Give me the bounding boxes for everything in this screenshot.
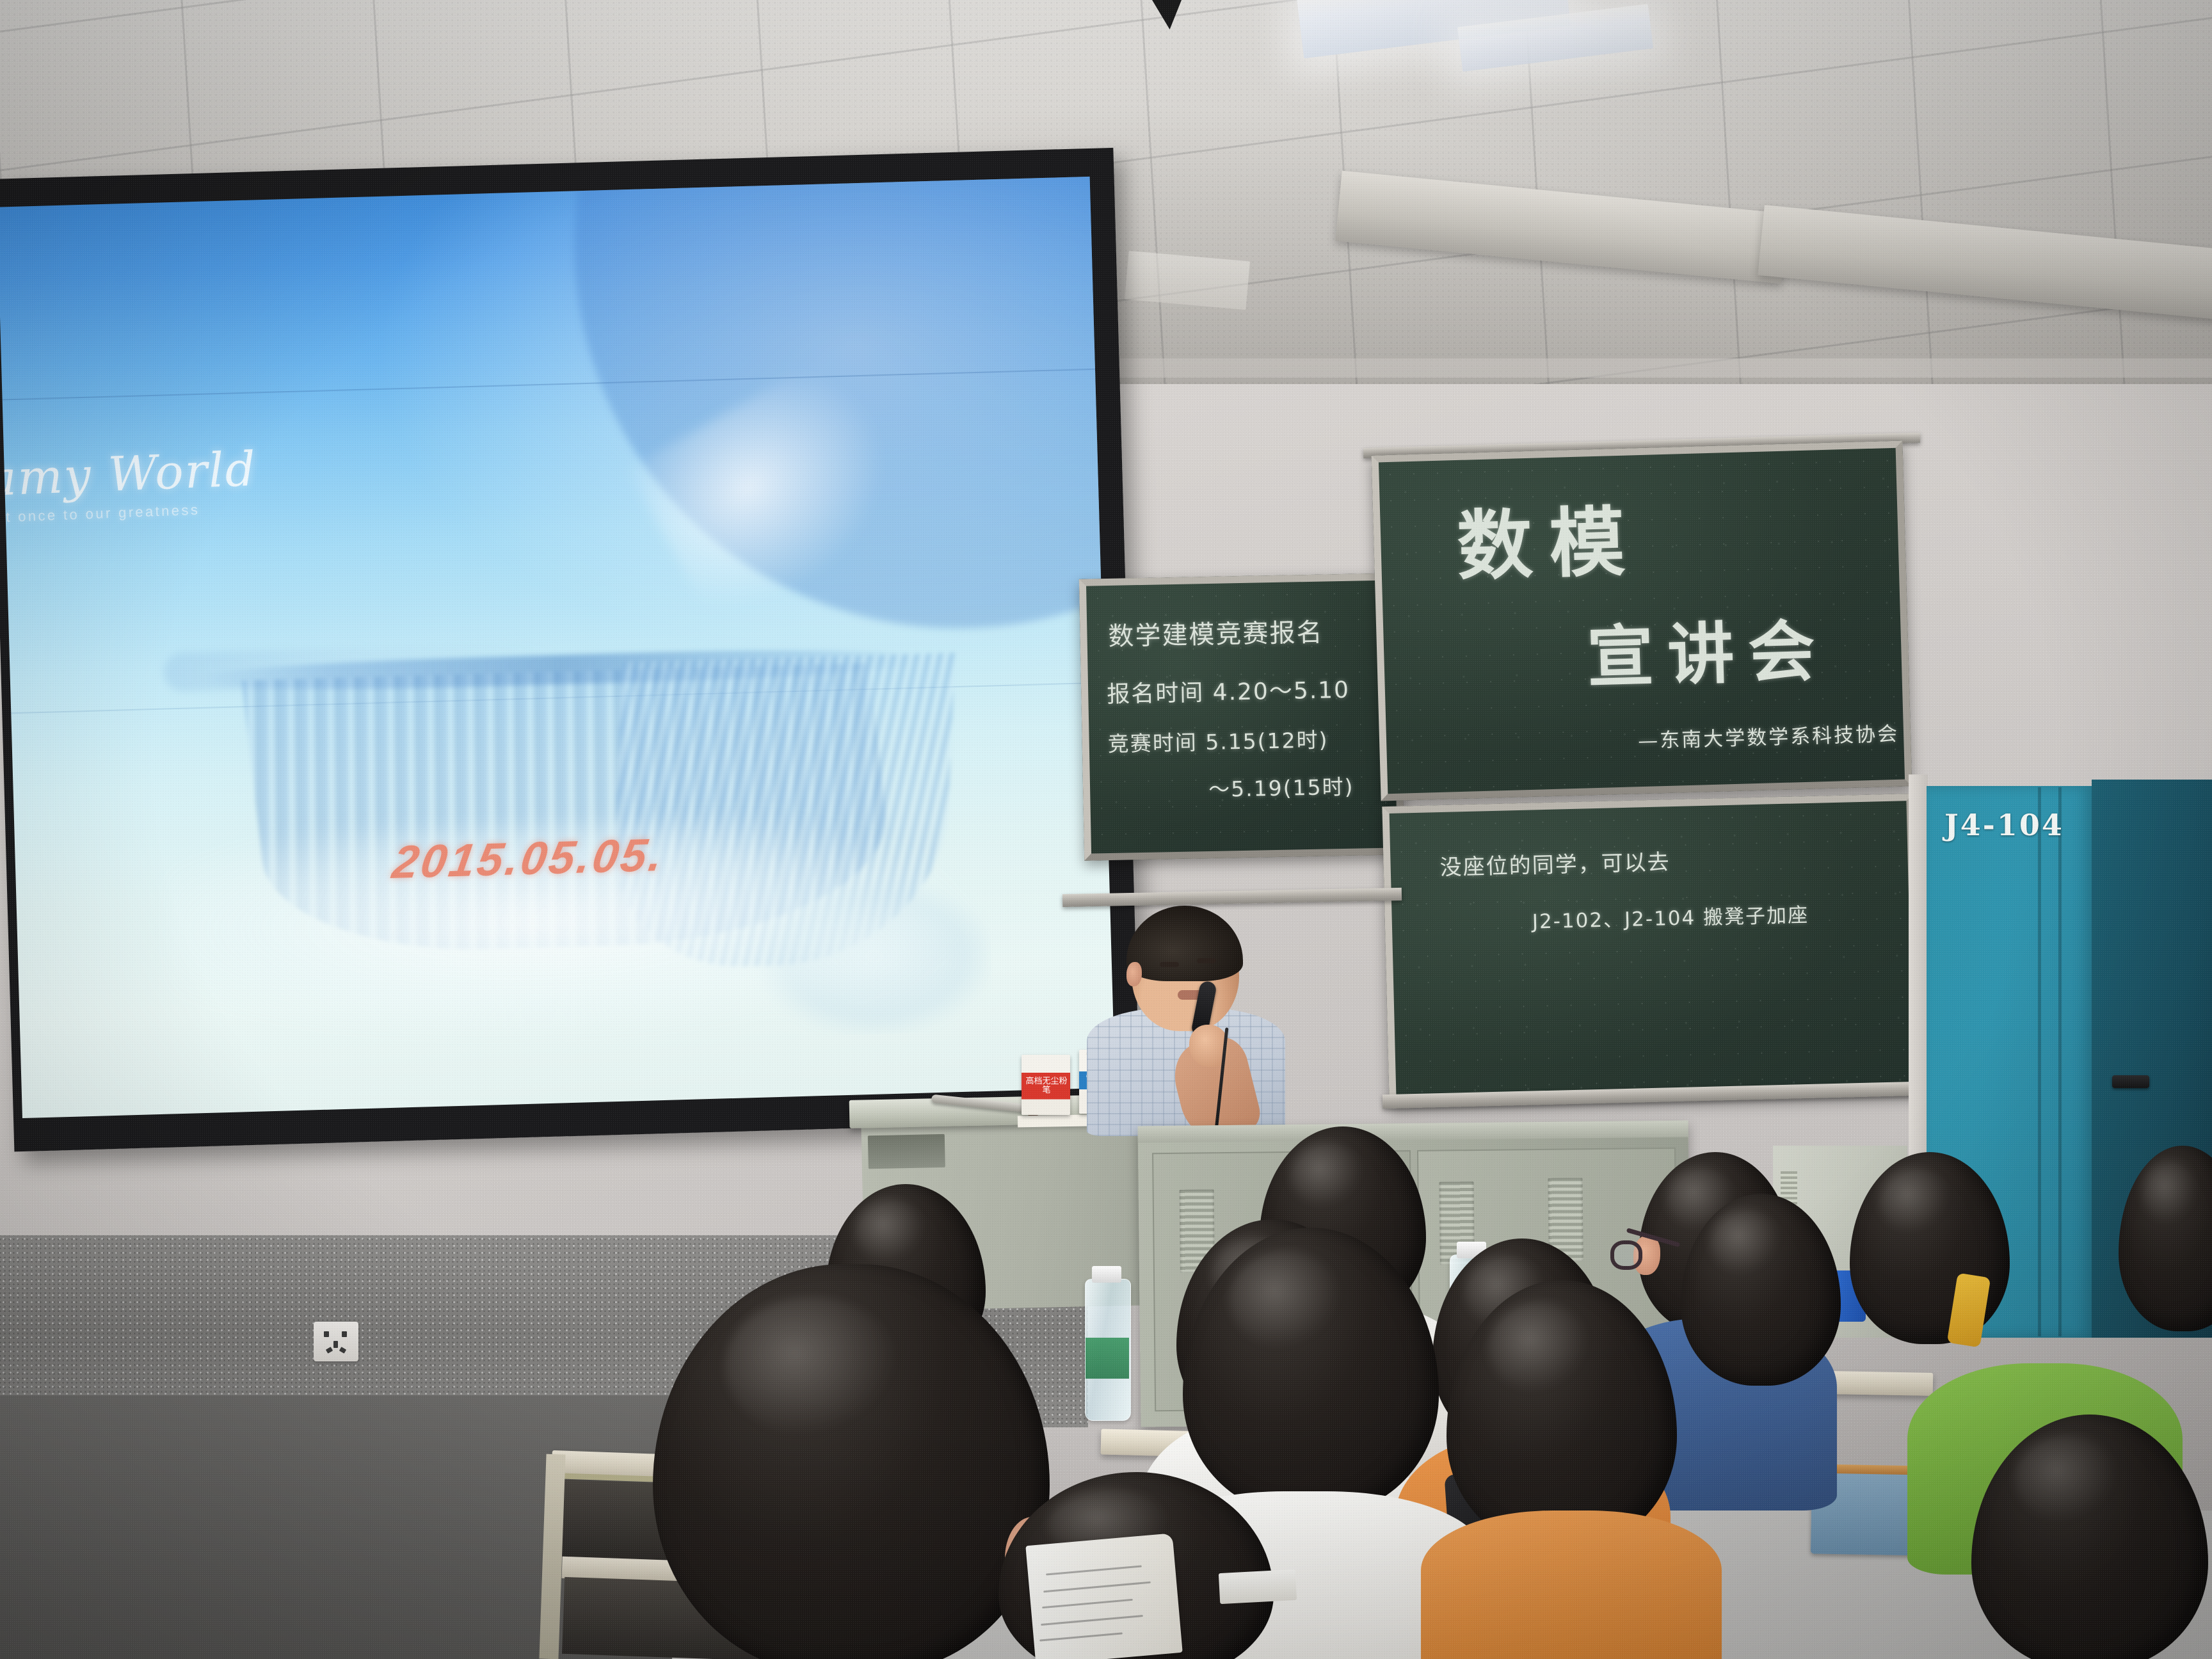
chalk-title-line1: 数模 <box>1455 480 1643 595</box>
chalk-line-contest-dates-cont: ～5.19(15时) <box>1208 770 1354 803</box>
classroom-photo: Dreamy World dreams are at once to our g… <box>0 0 2212 1659</box>
presenter-ear <box>1126 962 1142 986</box>
projected-slide: Dreamy World dreams are at once to our g… <box>0 177 1115 1118</box>
wall-power-outlet[interactable] <box>314 1322 358 1361</box>
lectern-recess <box>868 1134 945 1169</box>
chalk-line-registration-dates: 报名时间 4.20～5.10 <box>1107 671 1350 709</box>
hair-highlight <box>1290 1142 1363 1207</box>
hair-highlight <box>1229 1251 1342 1349</box>
presenter <box>1082 912 1293 1123</box>
hair-highlight <box>725 1297 899 1436</box>
hair-highlight <box>2014 1435 2119 1522</box>
door-handle[interactable] <box>2112 1075 2149 1088</box>
hair-highlight <box>1488 1302 1589 1393</box>
hair-highlight <box>2142 1160 2198 1224</box>
small-box-on-desk[interactable] <box>1219 1569 1297 1604</box>
chalkboard-frame <box>1382 794 1920 1107</box>
bottle-label-1 <box>1086 1338 1129 1379</box>
presenter-eye-right <box>1197 958 1216 963</box>
student-torso-front-right-orange <box>1421 1511 1722 1659</box>
bottle-cap-1 <box>1092 1266 1121 1283</box>
door-groove-1 <box>2038 787 2041 1336</box>
chalkboard-title: 数模 宣讲会 —东南大学数学系科技协会 <box>1372 441 1912 801</box>
projection-screen: Dreamy World dreams are at once to our g… <box>0 148 1141 1152</box>
door-groove-2 <box>2058 787 2062 1336</box>
hair-highlight <box>1710 1209 1780 1274</box>
hair-highlight <box>854 1199 925 1262</box>
chalk-notice-line1: 没座位的同学，可以去 <box>1439 844 1671 881</box>
room-number-label: J4-104 <box>1944 808 2064 842</box>
slide-date-overlay: 2015.05.05. <box>389 829 668 889</box>
chalkboard-registration: 数学建模竞赛报名 报名时间 4.20～5.10 竞赛时间 5.15(12时) ～… <box>1079 573 1404 861</box>
chalk-line-registration-title: 数学建模竞赛报名 <box>1108 612 1324 653</box>
glasses-lens-back-3 <box>1610 1240 1642 1270</box>
presenter-hair <box>1126 906 1243 981</box>
presenter-eye-left <box>1160 962 1179 967</box>
hair-highlight <box>1879 1167 1949 1233</box>
chalk-box-red-label: 高档无尘粉笔 <box>1024 1077 1069 1094</box>
chalk-title-line2: 宣讲会 <box>1585 597 1830 700</box>
chalk-line-contest-dates: 竞赛时间 5.15(12时) <box>1107 723 1329 758</box>
chalkboard-notice: 没座位的同学，可以去 J2-102、J2-104 搬凳子加座 <box>1382 794 1920 1107</box>
